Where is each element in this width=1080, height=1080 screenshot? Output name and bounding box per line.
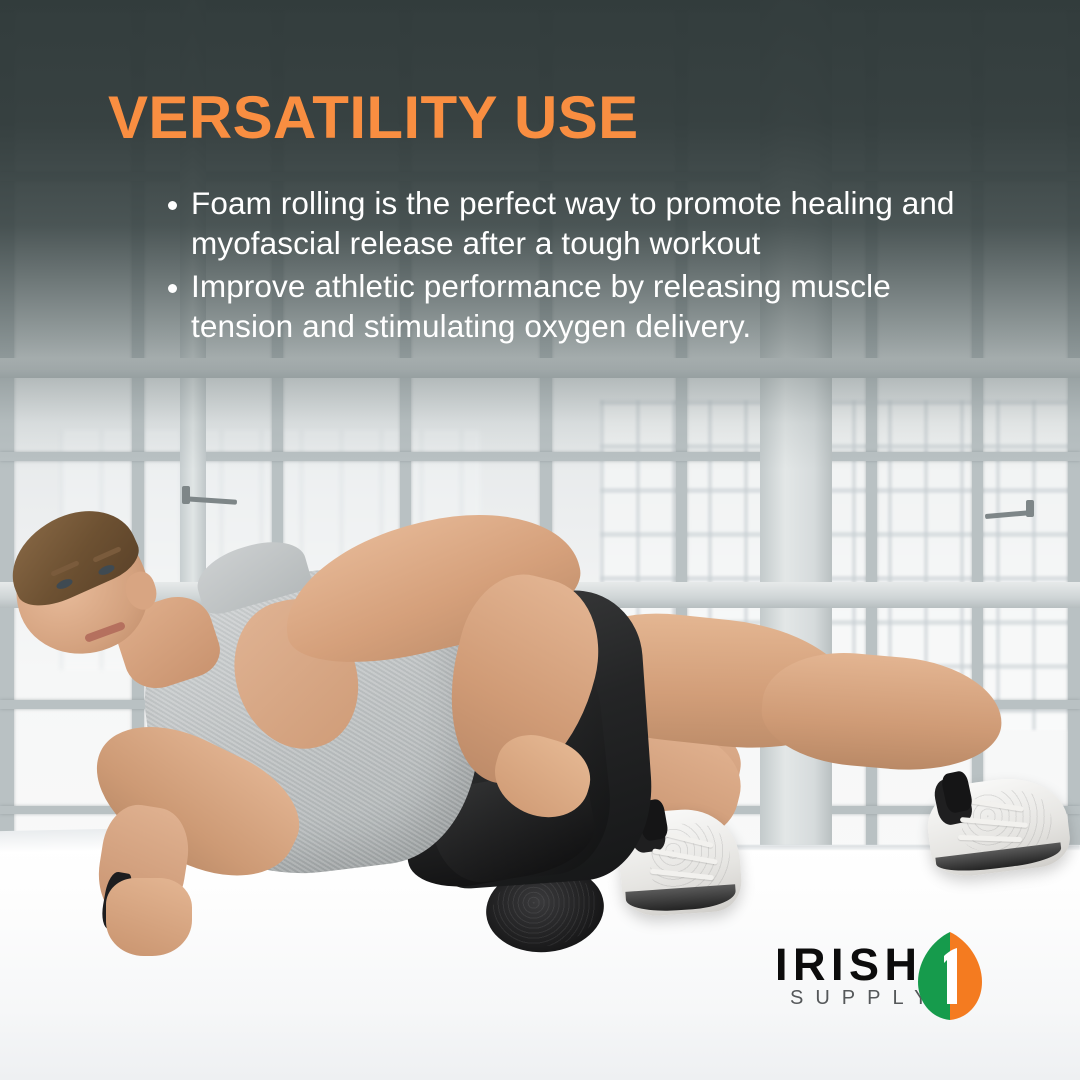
page-title: VERSATILITY USE (108, 88, 639, 148)
brand-wordmark: IRISH (775, 942, 923, 987)
product-lifestyle-photo (0, 0, 1080, 1080)
bullet-dot-icon (168, 201, 177, 210)
athlete-figure (0, 480, 1080, 950)
benefit-bullet-list: Foam rolling is the perfect way to promo… (168, 184, 968, 350)
bullet-dot-icon (168, 284, 177, 293)
athlete-fist (106, 878, 192, 956)
list-item-label: Foam rolling is the perfect way to promo… (191, 184, 968, 263)
irish-flag-leaf-icon (917, 930, 983, 1022)
list-item: Improve athletic performance by releasin… (168, 267, 968, 346)
list-item: Foam rolling is the perfect way to promo… (168, 184, 968, 263)
athlete-lower-leg (758, 646, 1007, 778)
brand-logo: IRISH SUPPLY (775, 938, 985, 1024)
marketing-graphic: VERSATILITY USE Foam rolling is the perf… (0, 0, 1080, 1080)
list-item-label: Improve athletic performance by releasin… (191, 267, 968, 346)
